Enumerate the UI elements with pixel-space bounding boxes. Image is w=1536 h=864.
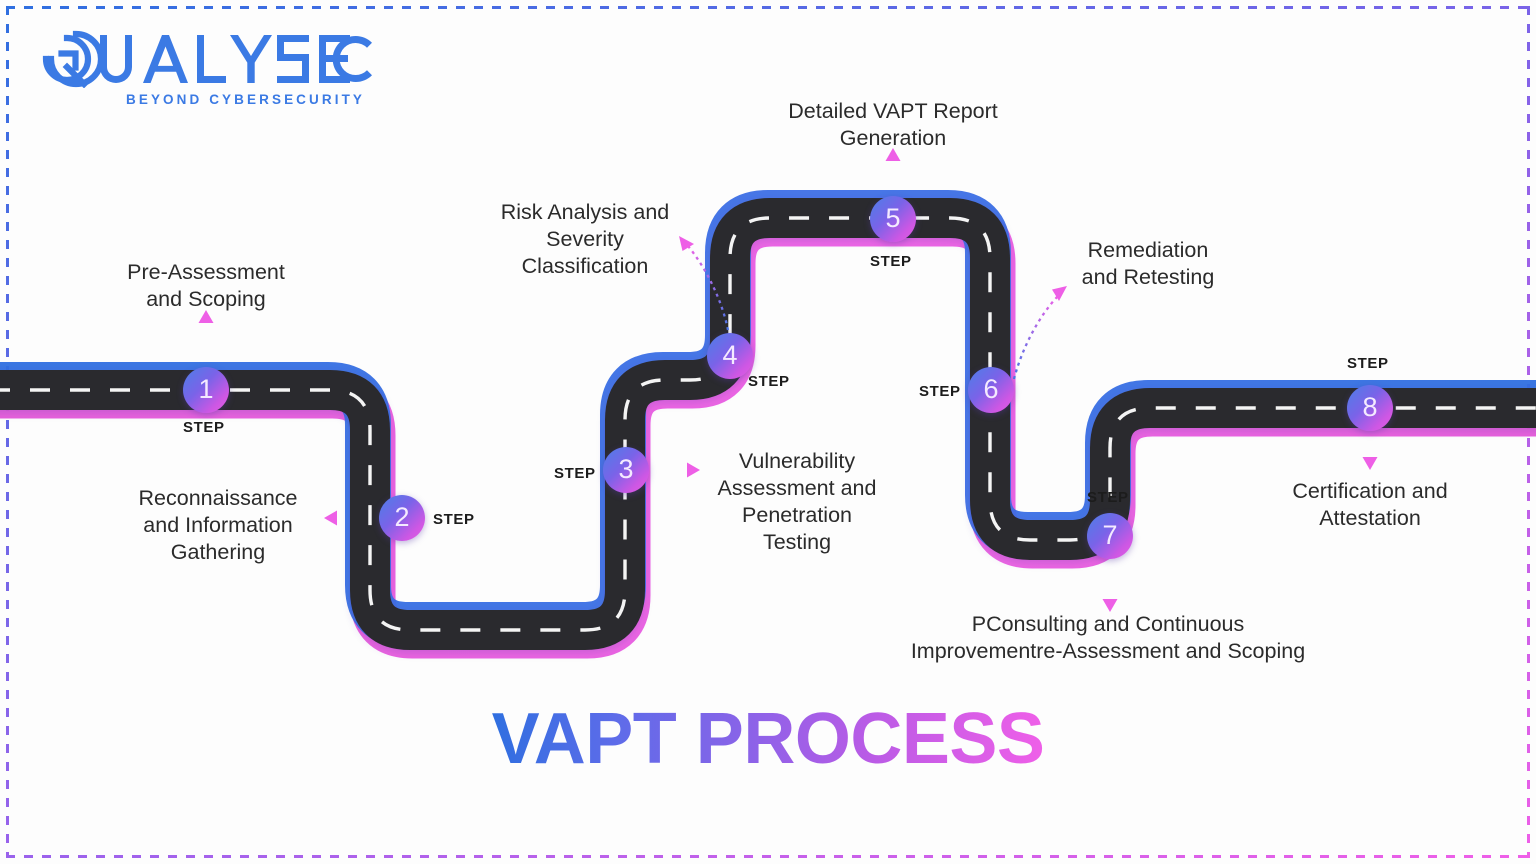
- step-marker-3[interactable]: 3: [603, 447, 649, 493]
- step-word-6: STEP: [919, 383, 961, 400]
- step-marker-6[interactable]: 6: [968, 367, 1014, 413]
- step-label-5: Detailed VAPT Report Generation: [748, 98, 1038, 152]
- qualysec-wordmark-icon: [34, 26, 374, 88]
- step-label-6: Remediation and Retesting: [1042, 237, 1254, 291]
- step-number-4: 4: [722, 342, 737, 369]
- step-number-7: 7: [1102, 522, 1117, 549]
- step-word-4: STEP: [748, 373, 790, 390]
- step-marker-7[interactable]: 7: [1087, 513, 1133, 559]
- page-title: VAPT PROCESS: [0, 698, 1536, 780]
- step-number-2: 2: [394, 504, 409, 531]
- step-word-1: STEP: [183, 419, 225, 436]
- step-word-2: STEP: [433, 511, 475, 528]
- step-label-7: PConsulting and Continuous Improvementre…: [838, 611, 1378, 665]
- step-marker-2[interactable]: 2: [379, 495, 425, 541]
- step-marker-5[interactable]: 5: [870, 196, 916, 242]
- step-number-5: 5: [885, 205, 900, 232]
- brand-logo: BEYOND CYBERSECURITY: [34, 26, 374, 112]
- step-number-6: 6: [983, 376, 998, 403]
- page-title-text: VAPT PROCESS: [492, 698, 1045, 780]
- step-marker-8[interactable]: 8: [1347, 385, 1393, 431]
- step-marker-1[interactable]: 1: [183, 367, 229, 413]
- step-label-1: Pre-Assessment and Scoping: [86, 259, 326, 313]
- step-number-8: 8: [1362, 394, 1377, 421]
- step-word-7: STEP: [1087, 489, 1129, 506]
- step-label-3: Vulnerability Assessment and Penetration…: [700, 448, 894, 556]
- step-word-8: STEP: [1347, 355, 1389, 372]
- infographic-canvas: BEYOND CYBERSECURITY: [0, 0, 1536, 864]
- step-label-2: Reconnaissance and Information Gathering: [96, 485, 340, 566]
- step-number-3: 3: [618, 456, 633, 483]
- step-label-4: Risk Analysis and Severity Classificatio…: [472, 199, 698, 280]
- step-word-3: STEP: [554, 465, 596, 482]
- step-label-8: Certification and Attestation: [1250, 478, 1490, 532]
- step-marker-4[interactable]: 4: [707, 333, 753, 379]
- step-word-5: STEP: [870, 253, 912, 270]
- brand-tagline: BEYOND CYBERSECURITY: [126, 92, 365, 107]
- step-number-1: 1: [198, 376, 213, 403]
